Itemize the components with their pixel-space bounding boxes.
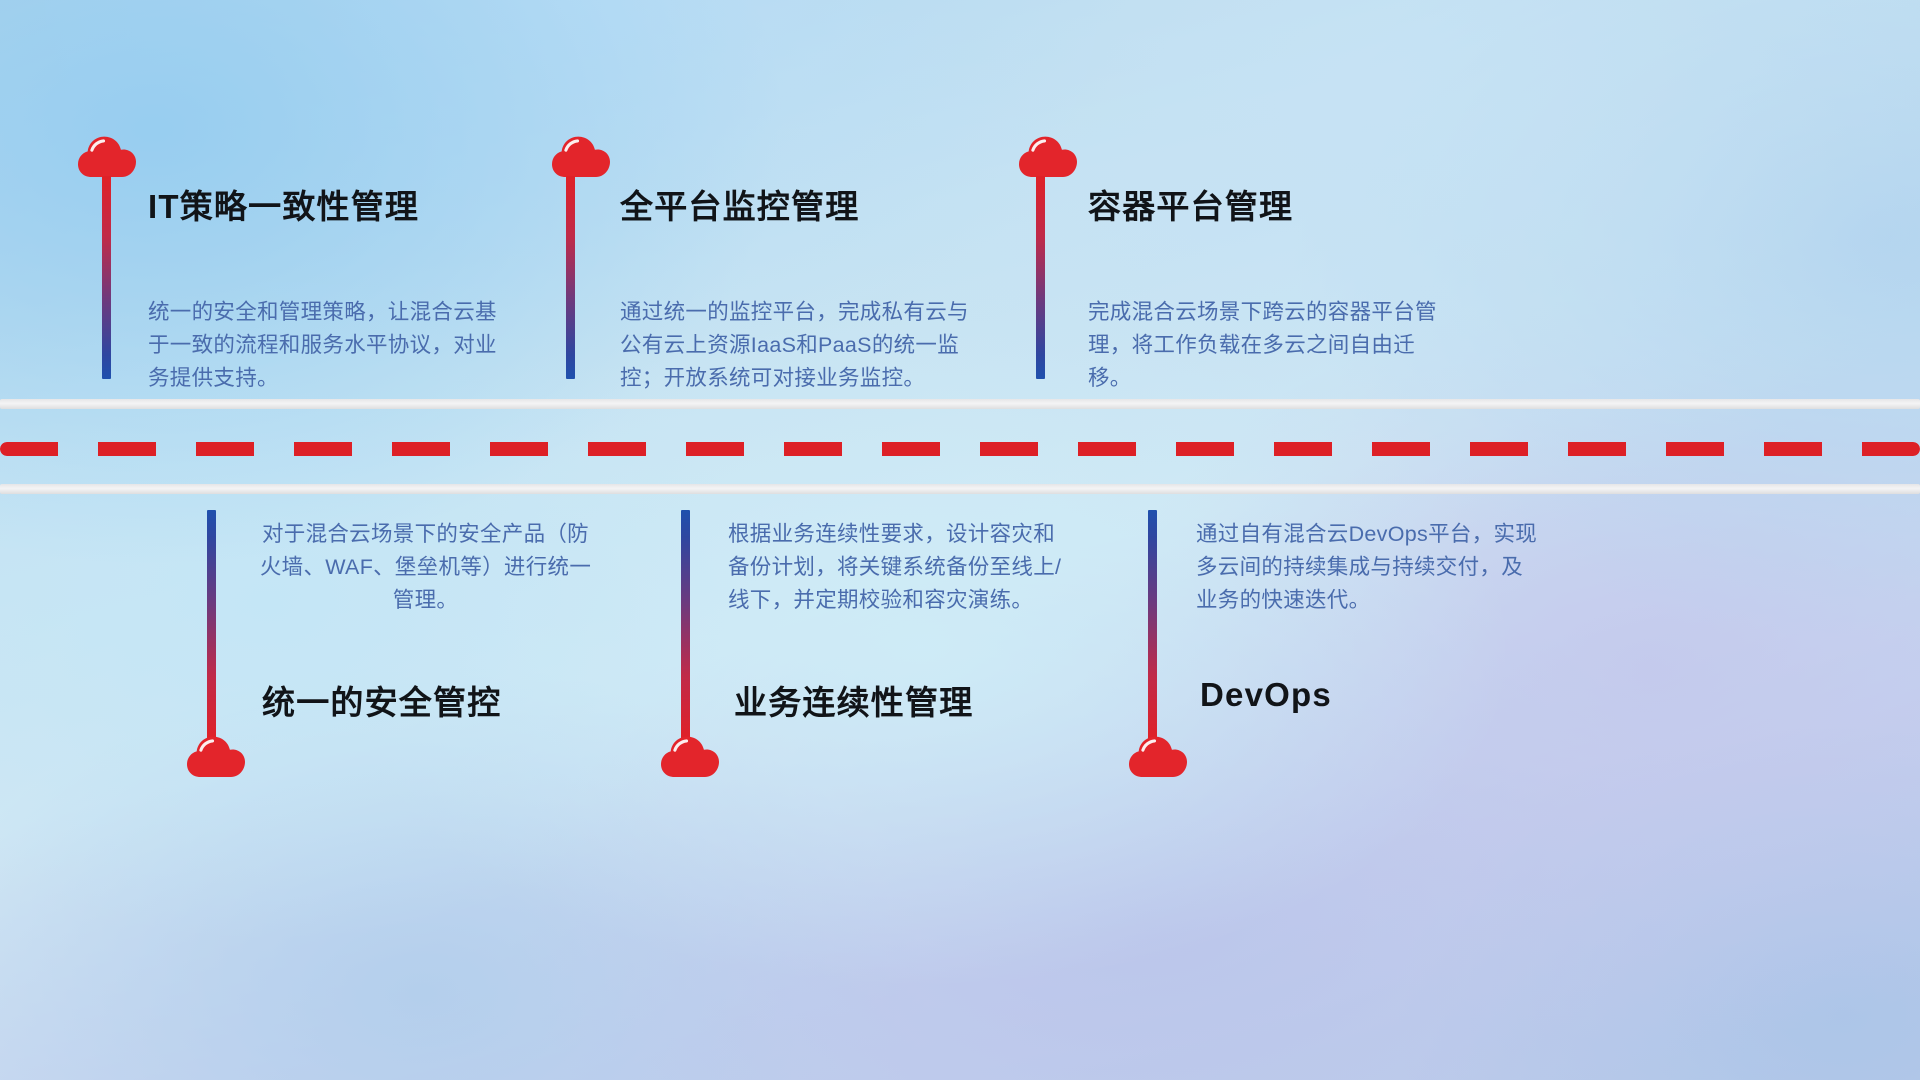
bottom-item-2-body: 根据业务连续性要求，设计容灾和备份计划，将关键系统备份至线上/线下，并定期校验和…: [728, 518, 1076, 617]
road-upper-line: [0, 399, 1920, 409]
bottom-item-3-body: 通过自有混合云DevOps平台，实现多云间的持续集成与持续交付，及业务的快速迭代…: [1196, 518, 1544, 617]
pin-line: [681, 510, 690, 740]
road-lower-line: [0, 484, 1920, 494]
cloud-icon: [1128, 730, 1188, 778]
cloud-icon: [1018, 130, 1078, 178]
top-item-3-body: 完成混合云场景下跨云的容器平台管理，将工作负载在多云之间自由迁移。: [1088, 296, 1440, 395]
cloud-icon: [660, 730, 720, 778]
pin-line: [207, 510, 216, 740]
pin-line: [566, 176, 575, 379]
cloud-icon: [77, 130, 137, 178]
pin-line: [102, 176, 111, 379]
bottom-item-1-body: 对于混合云场景下的安全产品（防火墙、WAF、堡垒机等）进行统一管理。: [253, 518, 598, 617]
top-item-2-body: 通过统一的监控平台，完成私有云与公有云上资源IaaS和PaaS的统一监控；开放系…: [620, 296, 972, 395]
top-item-1-title: IT策略一致性管理: [148, 180, 419, 228]
top-item-2-title: 全平台监控管理: [620, 180, 859, 228]
bottom-item-3-title: DevOps: [1200, 676, 1332, 714]
cloud-icon: [186, 730, 246, 778]
top-item-1-body: 统一的安全和管理策略，让混合云基于一致的流程和服务水平协议，对业务提供支持。: [148, 296, 498, 395]
bottom-item-2-title: 业务连续性管理: [734, 676, 973, 724]
road-center-dash: [0, 442, 1920, 456]
bottom-item-1-title: 统一的安全管控: [262, 676, 501, 724]
cloud-icon: [551, 130, 611, 178]
top-item-3-title: 容器平台管理: [1088, 180, 1293, 228]
pin-line: [1148, 510, 1157, 740]
pin-line: [1036, 176, 1045, 379]
